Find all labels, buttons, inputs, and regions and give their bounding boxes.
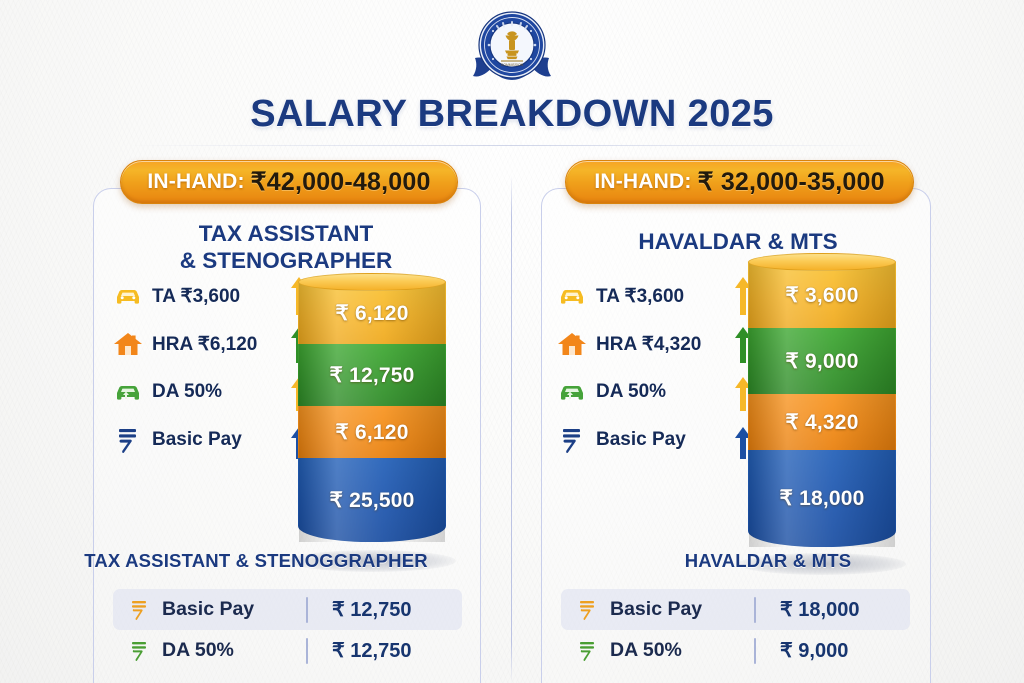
legend-list: TA ₹3,600 HRA ₹6,120: [113, 272, 309, 464]
table-row: DA 50% ₹ 9,000: [561, 630, 910, 671]
cylinder-segment-ta: ₹ 6,120: [298, 282, 446, 344]
government-emblem-icon: COMMISSION: [469, 8, 555, 86]
table-label: DA 50%: [610, 639, 682, 662]
cylinder-top-cap: [748, 253, 896, 271]
table-value: ₹ 9,000: [756, 638, 848, 663]
panel-heading: HAVALDAR & MTS: [552, 228, 924, 255]
in-hand-label: IN-HAND:: [147, 170, 244, 194]
table-title: TAX ASSISTANT & STENOGGRAPHER: [0, 550, 512, 572]
cylinder-segment-basic: ₹ 18,000: [748, 450, 896, 547]
legend-item-hra: HRA ₹6,120: [113, 320, 309, 368]
rupee-icon-orange: [577, 598, 599, 622]
legend-list: TA ₹3,600 HRA ₹4,320: [557, 272, 753, 464]
legend-label: HRA ₹4,320: [596, 333, 701, 356]
legend-label: DA 50%: [596, 381, 666, 403]
legend-label: TA ₹3,600: [152, 285, 240, 308]
table-cell-label: Basic Pay: [113, 598, 306, 622]
panel-heading-line1: HAVALDAR & MTS: [552, 228, 924, 255]
segment-value: ₹ 12,750: [329, 363, 414, 388]
legend-label: TA ₹3,600: [596, 285, 684, 308]
table-value: ₹ 12,750: [308, 638, 411, 663]
legend-item-da: DA 50%: [557, 368, 753, 416]
rupee-icon-orange: [129, 598, 151, 622]
in-hand-badge: IN-HAND: ₹ 32,000-35,000: [565, 160, 914, 204]
legend-item-ta: TA ₹3,600: [557, 272, 753, 320]
chart-stage: TA ₹3,600 HRA ₹4,320: [512, 272, 1024, 540]
rupee-icon: [557, 425, 587, 455]
rupee-icon-green: [129, 639, 151, 663]
cylinder-top-cap: [298, 273, 446, 291]
table-title: HAVALDAR & MTS: [512, 550, 1024, 572]
segment-value: ₹ 9,000: [785, 349, 858, 374]
table-value: ₹ 12,750: [308, 597, 411, 622]
table-row: Basic Pay ₹ 12,750: [113, 589, 462, 630]
car-up-icon: [557, 377, 587, 407]
cylinder-segment-da: ₹ 6,120: [298, 406, 446, 458]
panel-heading-line2: & STENOGRAPHER: [100, 247, 472, 274]
cylinder-segment-basic: ₹ 25,500: [298, 458, 446, 542]
legend-item-basic-pay: Basic Pay: [113, 416, 309, 464]
segment-value: ₹ 6,120: [335, 301, 408, 326]
table-cell-label: Basic Pay: [561, 598, 754, 622]
cylinder-segment-hra: ₹ 9,000: [748, 328, 896, 394]
in-hand-value: ₹42,000-48,000: [251, 167, 431, 197]
legend-item-ta: TA ₹3,600: [113, 272, 309, 320]
summary-table: Basic Pay ₹ 18,000 D: [561, 589, 910, 671]
table-row: Basic Pay ₹ 18,000: [561, 589, 910, 630]
table-row: DA 50% ₹ 12,750: [113, 630, 462, 671]
table-label: Basic Pay: [162, 598, 254, 621]
car-icon: [557, 281, 587, 311]
in-hand-value: ₹ 32,000-35,000: [698, 167, 885, 197]
car-up-icon: [113, 377, 143, 407]
table-label: DA 50%: [162, 639, 234, 662]
legend-item-hra: HRA ₹4,320: [557, 320, 753, 368]
cylinder-segment-da: ₹ 4,320: [748, 394, 896, 450]
table-label: Basic Pay: [610, 598, 702, 621]
panel-tax-assistant: IN-HAND: ₹42,000-48,000 TAX ASSISTANT & …: [0, 160, 512, 683]
segment-value: ₹ 3,600: [785, 283, 858, 308]
house-icon: [557, 329, 587, 359]
page-title: SALARY BREAKDOWN 2025: [0, 93, 1024, 136]
legend-label: DA 50%: [152, 381, 222, 403]
summary-table-container: TAX ASSISTANT & STENOGGRAPHER Basic Pay: [0, 550, 512, 671]
panels-container: IN-HAND: ₹42,000-48,000 TAX ASSISTANT & …: [0, 160, 1024, 683]
summary-table-container: HAVALDAR & MTS Basic Pay: [512, 550, 1024, 671]
cylinder-segment-hra: ₹ 12,750: [298, 344, 446, 406]
segment-value: ₹ 18,000: [779, 486, 864, 511]
svg-text:COMMISSION: COMMISSION: [501, 63, 524, 67]
table-cell-label: DA 50%: [561, 639, 754, 663]
legend-item-da: DA 50%: [113, 368, 309, 416]
legend-label: Basic Pay: [152, 429, 242, 451]
segment-value: ₹ 25,500: [329, 488, 414, 513]
in-hand-badge: IN-HAND: ₹42,000-48,000: [120, 160, 458, 204]
title-divider: [128, 145, 896, 146]
salary-cylinder: ₹ 3,600 ₹ 9,000 ₹ 4,320 ₹ 18,000: [748, 262, 896, 547]
panel-heading: TAX ASSISTANT & STENOGRAPHER: [100, 220, 472, 275]
emblem-container: COMMISSION: [0, 8, 1024, 86]
car-icon: [113, 281, 143, 311]
chart-stage: TA ₹3,600 HRA ₹6,120: [0, 272, 512, 540]
segment-value: ₹ 4,320: [785, 410, 858, 435]
rupee-icon: [113, 425, 143, 455]
segment-value: ₹ 6,120: [335, 420, 408, 445]
panel-heading-line1: TAX ASSISTANT: [100, 220, 472, 247]
panel-havaldar-mts: IN-HAND: ₹ 32,000-35,000 HAVALDAR & MTS: [512, 160, 1024, 683]
table-value: ₹ 18,000: [756, 597, 859, 622]
legend-item-basic-pay: Basic Pay: [557, 416, 753, 464]
house-icon: [113, 329, 143, 359]
summary-table: Basic Pay ₹ 12,750 D: [113, 589, 462, 671]
table-cell-label: DA 50%: [113, 639, 306, 663]
legend-label: Basic Pay: [596, 429, 686, 451]
in-hand-label: IN-HAND:: [594, 170, 691, 194]
rupee-icon-green: [577, 639, 599, 663]
cylinder-segment-ta: ₹ 3,600: [748, 262, 896, 328]
legend-label: HRA ₹6,120: [152, 333, 257, 356]
salary-cylinder: ₹ 6,120 ₹ 12,750 ₹ 6,120 ₹ 25,500: [298, 282, 446, 542]
